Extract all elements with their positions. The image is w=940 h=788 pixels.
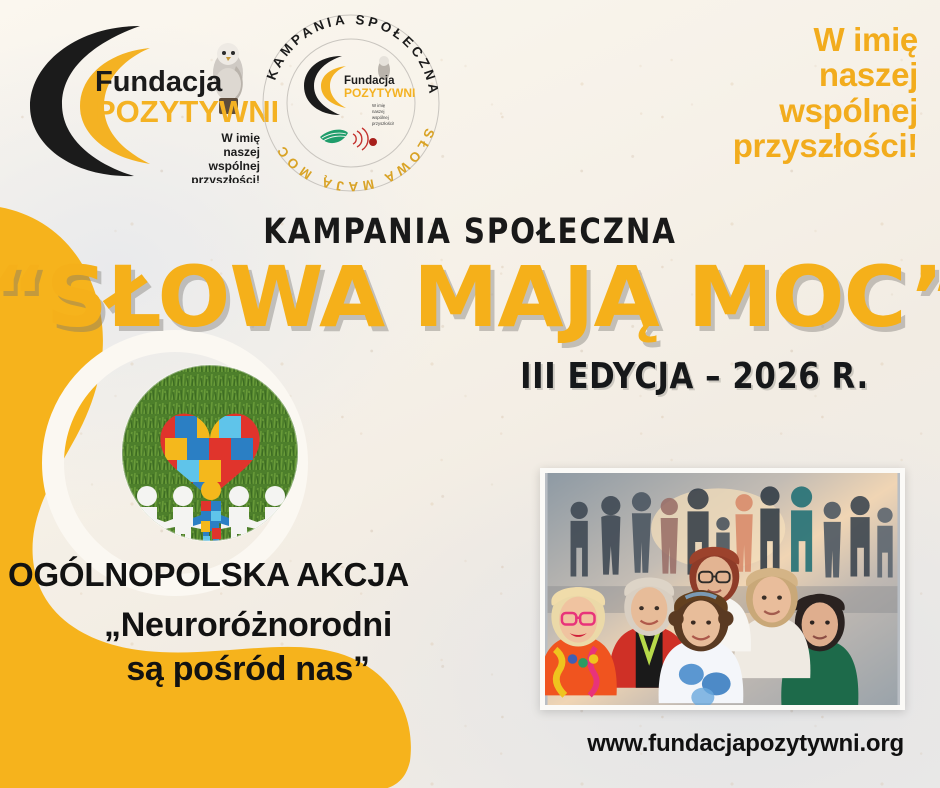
website-url[interactable]: www.fundacjapozytywni.org [587,730,904,758]
svg-text:przyszłości!: przyszłości! [191,173,260,183]
subtitle-line-1: „Neuroróżnorodni [8,604,488,648]
slogan-line-1: W imię [733,22,918,57]
soundwave-icon [353,128,368,150]
slogan-line-2: naszej [733,57,918,92]
svg-text:POZYTYWNI: POZYTYWNI [95,94,277,129]
team-photo-illustration [545,473,900,705]
campaign-title: “SŁOWA MAJĄ MOC” [0,248,940,346]
foundation-logo: Fundacja POZYTYWNI W imię naszej wspólne… [22,18,277,183]
campaign-subtitle: „Neuroróżnorodni są pośród nas” [8,604,488,691]
scope-label: OGÓLNOPOLSKA AKCJA [8,558,488,591]
poster-canvas: Fundacja POZYTYWNI W imię naszej wspólne… [0,0,940,788]
svg-text:naszej: naszej [372,109,384,114]
subtitle-line-2: są pośród nas” [8,648,488,692]
svg-text:przyszłości!: przyszłości! [372,121,394,126]
svg-text:W imię: W imię [372,103,386,108]
svg-text:wspólnej: wspólnej [208,159,260,173]
slogan-line-3: wspólnej [733,93,918,128]
neurodiversity-emblem [115,358,305,548]
svg-text:wspólnej: wspólnej [372,115,389,120]
campaign-seal: KAMPANIA SPOŁECZNA SŁOWA MAJĄ MOC Fundac… [256,8,446,198]
leaf-icon [320,130,348,143]
edition-label: III EDYCJA – 2026 R. [520,356,869,397]
slogan-line-4: przyszłości! [733,128,918,163]
svg-text:naszej: naszej [223,145,260,159]
svg-text:W imię: W imię [221,131,260,145]
svg-text:POZYTYWNI: POZYTYWNI [344,86,415,100]
team-photo [540,468,905,710]
campaign-kicker: KAMPANIA SPOŁECZNA [33,212,907,252]
slogan-block: W imię naszej wspólnej przyszłości! [733,22,918,163]
